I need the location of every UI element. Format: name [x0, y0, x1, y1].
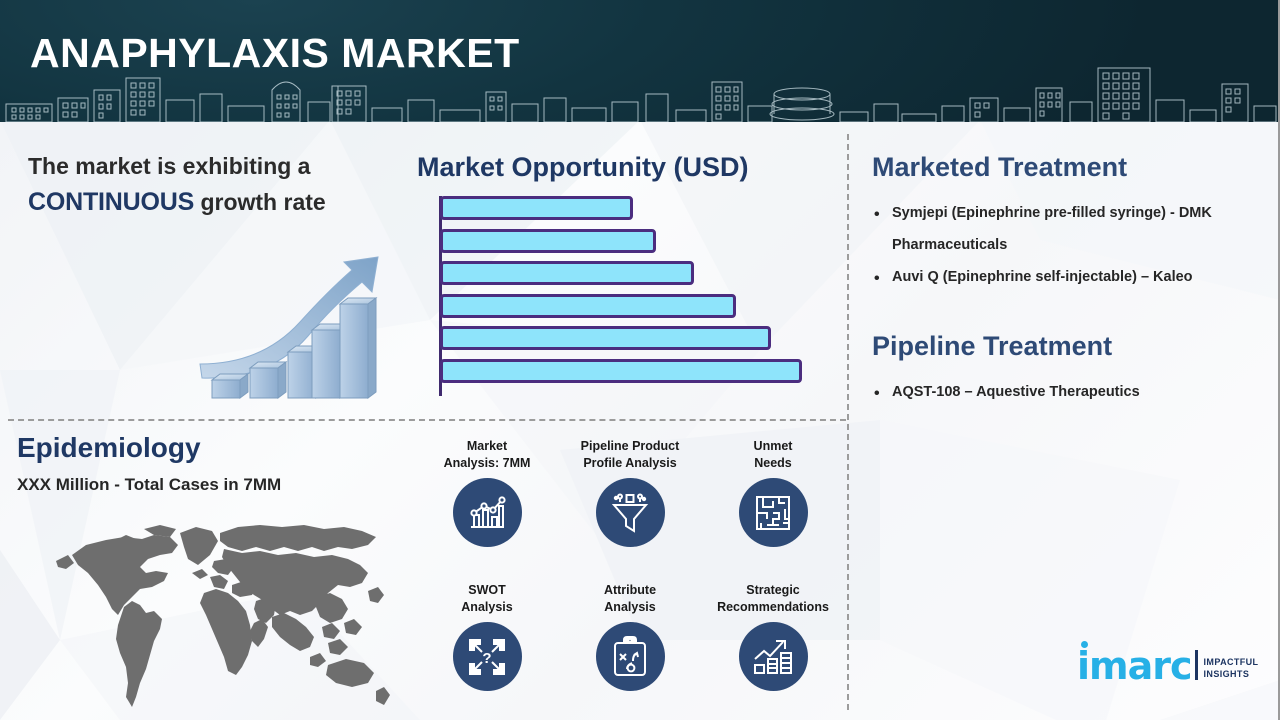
list-item: Symjepi (Epinephrine pre-filled syringe)…: [872, 198, 1272, 262]
analysis-icon-grid: Market Analysis: 7MM: [412, 438, 848, 708]
grid-item-market-analysis[interactable]: Market Analysis: 7MM: [412, 438, 562, 547]
grid-label-line2: Analysis: [555, 599, 705, 616]
clipboard-strategy-icon: [596, 622, 665, 691]
logo-divider-bar: [1195, 650, 1198, 680]
logo-wordmark: imarc: [1077, 650, 1192, 682]
chart-bar: [440, 229, 656, 253]
logo-dot-icon: [1081, 641, 1088, 648]
chart-bar: [440, 196, 633, 220]
grid-label-line1: Pipeline Product: [555, 438, 705, 455]
chart-bar: [440, 359, 802, 383]
svg-text:?: ?: [482, 650, 491, 667]
grid-label-line1: Unmet: [698, 438, 848, 455]
market-statement: The market is exhibiting a CONTINUOUS gr…: [28, 150, 388, 221]
grid-label-line2: Needs: [698, 455, 848, 472]
grid-item-strategic-recommendations[interactable]: Strategic Recommendations: [698, 582, 848, 691]
chart-title: Market Opportunity (USD): [417, 152, 749, 183]
epidemiology-heading: Epidemiology: [17, 432, 201, 464]
chart-bar: [440, 294, 736, 318]
bar-chart-line-icon: [453, 478, 522, 547]
infographic-slide: ANAPHYLAXIS MARKET The market is exhibit…: [0, 0, 1280, 720]
pipeline-treatment-list: AQST-108 – Aquestive Therapeutics: [872, 377, 1272, 409]
grid-item-pipeline-product-profile[interactable]: Pipeline Product Profile Analysis: [555, 438, 705, 547]
grid-item-unmet-needs[interactable]: Unmet Needs: [698, 438, 848, 547]
lede-highlight: CONTINUOUS: [28, 188, 194, 216]
lede-text-part2: growth rate: [194, 189, 326, 215]
marketed-treatment-list: Symjepi (Epinephrine pre-filled syringe)…: [872, 198, 1272, 294]
horizontal-divider: [8, 419, 846, 421]
pipeline-treatment-heading: Pipeline Treatment: [872, 331, 1112, 362]
market-opportunity-chart: [435, 196, 830, 396]
grid-label-line1: SWOT: [412, 582, 562, 599]
logo-tagline: IMPACTFUL INSIGHTS: [1204, 656, 1259, 682]
list-item: AQST-108 – Aquestive Therapeutics: [872, 377, 1272, 409]
funnel-filter-icon: [596, 478, 665, 547]
grid-label-line2: Recommendations: [698, 599, 848, 616]
marketed-treatment-heading: Marketed Treatment: [872, 152, 1127, 183]
maze-icon: [739, 478, 808, 547]
grid-label-line2: Analysis: 7MM: [412, 455, 562, 472]
grid-label-line1: Strategic: [698, 582, 848, 599]
chart-bar: [440, 261, 694, 285]
logo-tagline-line1: IMPACTFUL: [1204, 656, 1259, 668]
chart-bar: [440, 326, 771, 350]
logo-word-text: imarc: [1077, 644, 1192, 688]
grid-label-line2: Profile Analysis: [555, 455, 705, 472]
grid-label-line1: Market: [412, 438, 562, 455]
slide-header: ANAPHYLAXIS MARKET: [0, 0, 1280, 122]
imarc-logo[interactable]: imarc IMPACTFUL INSIGHTS: [1077, 650, 1258, 682]
logo-tagline-line2: INSIGHTS: [1204, 668, 1259, 680]
world-map-icon: [28, 515, 418, 715]
epidemiology-subtext: XXX Million - Total Cases in 7MM: [17, 475, 281, 495]
swot-arrows-question-icon: ?: [453, 622, 522, 691]
grid-label-line2: Analysis: [412, 599, 562, 616]
grid-item-swot-analysis[interactable]: SWOT Analysis ?: [412, 582, 562, 691]
grid-item-attribute-analysis[interactable]: Attribute Analysis: [555, 582, 705, 691]
list-item: Auvi Q (Epinephrine self-injectable) – K…: [872, 262, 1272, 294]
grid-label-line1: Attribute: [555, 582, 705, 599]
growth-bar-chart-arrow-icon: [192, 252, 392, 404]
growth-arrow-bars-icon: [739, 622, 808, 691]
lede-text-part1: The market is exhibiting a: [28, 153, 310, 179]
page-title: ANAPHYLAXIS MARKET: [30, 33, 520, 74]
vertical-divider: [847, 134, 849, 710]
